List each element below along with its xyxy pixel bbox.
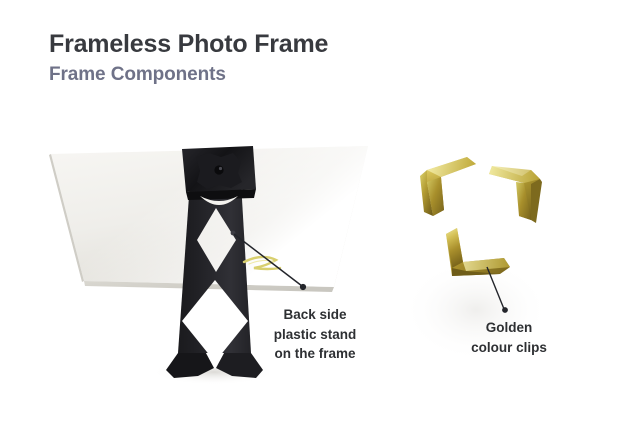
- stand-leader-dot: [300, 284, 306, 290]
- clips-caption: Golden colour clips: [450, 318, 568, 357]
- stand-caption-line-3: on the frame: [257, 344, 373, 364]
- product-illustration: [0, 110, 640, 427]
- clips-leader-dot: [502, 307, 508, 313]
- stand-caption-line-2: plastic stand: [257, 325, 373, 345]
- page-title: Frameless Photo Frame: [49, 30, 328, 58]
- golden-corner-clip-top-right: [489, 166, 542, 223]
- page-subtitle: Frame Components: [49, 64, 328, 86]
- figure-stage: Back side plastic stand on the frame Gol…: [0, 110, 640, 427]
- stand-caption: Back side plastic stand on the frame: [257, 305, 373, 364]
- golden-corner-clip-bottom: [446, 228, 510, 276]
- stand-caption-line-1: Back side: [257, 305, 373, 325]
- stand-pivot-hub: [196, 153, 242, 189]
- slide-canvas: Frameless Photo Frame Frame Components: [0, 0, 640, 427]
- clips-caption-line-1: Golden: [450, 318, 568, 338]
- golden-corner-clip-top-left: [420, 157, 476, 216]
- heading-block: Frameless Photo Frame Frame Components: [49, 30, 328, 86]
- clips-caption-line-2: colour clips: [450, 338, 568, 358]
